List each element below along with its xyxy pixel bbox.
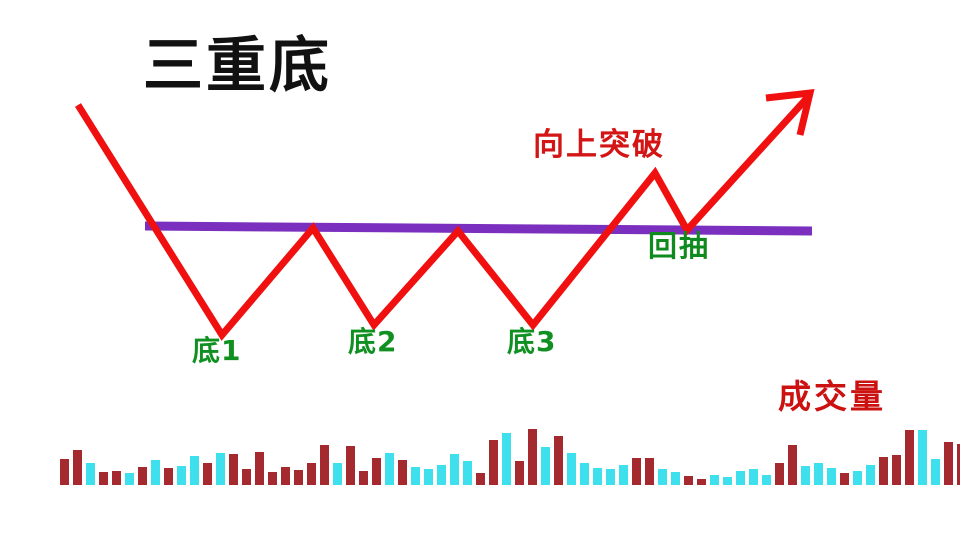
volume-bar xyxy=(73,450,82,485)
volume-bar xyxy=(216,453,225,485)
volume-bar xyxy=(671,472,680,485)
volume-bar xyxy=(476,473,485,485)
volume-bar xyxy=(788,445,797,485)
chart-canvas: 三重底 向上突破 回抽 成交量 底1 底2 底3 xyxy=(0,0,960,540)
volume-annotation: 成交量 xyxy=(778,380,886,413)
page-title: 三重底 xyxy=(143,36,332,96)
volume-bar xyxy=(164,468,173,485)
volume-bar xyxy=(333,463,342,485)
volume-bar xyxy=(645,458,654,485)
volume-bar xyxy=(346,446,355,485)
volume-bar xyxy=(697,479,706,485)
volume-bar xyxy=(684,476,693,485)
bottom-3-annotation: 底3 xyxy=(507,328,556,356)
volume-bar xyxy=(632,458,641,485)
volume-bar xyxy=(320,445,329,485)
volume-bar xyxy=(294,470,303,485)
volume-bar xyxy=(931,459,940,485)
price-polyline xyxy=(78,97,808,335)
volume-bar xyxy=(411,467,420,485)
pullback-annotation: 回抽 xyxy=(648,232,710,261)
volume-bar xyxy=(749,469,758,485)
volume-bar xyxy=(918,430,927,485)
volume-bar xyxy=(112,471,121,485)
neckline-segment xyxy=(145,226,812,231)
volume-bar xyxy=(814,463,823,485)
volume-bar xyxy=(567,453,576,485)
volume-bar xyxy=(60,459,69,485)
volume-bar xyxy=(775,463,784,485)
volume-bar xyxy=(502,433,511,485)
volume-bar xyxy=(866,465,875,485)
bottom-1-annotation: 底1 xyxy=(192,337,241,365)
volume-bar xyxy=(827,468,836,485)
volume-bar xyxy=(450,454,459,485)
price-line xyxy=(78,97,808,335)
volume-bar xyxy=(398,460,407,485)
volume-bar xyxy=(762,475,771,485)
support-line xyxy=(145,226,812,231)
volume-bar xyxy=(489,440,498,485)
volume-bar xyxy=(359,471,368,485)
volume-bar xyxy=(177,466,186,485)
volume-bar xyxy=(710,475,719,485)
volume-bar xyxy=(138,467,147,485)
volume-bar xyxy=(463,461,472,485)
volume-bar xyxy=(944,442,953,485)
volume-bar xyxy=(580,463,589,485)
volume-bar xyxy=(151,460,160,485)
volume-bar xyxy=(905,430,914,485)
volume-bar xyxy=(268,472,277,485)
volume-bar xyxy=(554,436,563,485)
volume-bar xyxy=(307,463,316,485)
volume-bar xyxy=(853,471,862,485)
volume-bar xyxy=(736,471,745,485)
volume-bar xyxy=(437,465,446,485)
volume-bar xyxy=(242,469,251,485)
volume-bar xyxy=(190,456,199,485)
volume-bar xyxy=(86,463,95,485)
volume-bar xyxy=(892,455,901,485)
bottom-2-annotation: 底2 xyxy=(348,328,397,356)
volume-bar xyxy=(99,472,108,485)
volume-bar xyxy=(658,469,667,485)
volume-bar xyxy=(840,473,849,485)
volume-bar xyxy=(424,469,433,485)
volume-bar xyxy=(606,469,615,485)
volume-bar xyxy=(723,477,732,485)
volume-bar xyxy=(619,465,628,485)
volume-bars xyxy=(60,429,960,485)
volume-bar xyxy=(125,473,134,485)
volume-bar xyxy=(203,463,212,485)
volume-bar xyxy=(541,447,550,485)
breakout-annotation: 向上突破 xyxy=(533,130,665,161)
volume-bar xyxy=(801,466,810,485)
volume-bar xyxy=(593,468,602,485)
volume-bar xyxy=(528,429,537,485)
volume-bar xyxy=(255,452,264,485)
volume-bar xyxy=(515,461,524,485)
volume-bar xyxy=(385,453,394,485)
volume-bar xyxy=(879,457,888,485)
volume-bar xyxy=(281,467,290,485)
volume-bar xyxy=(372,458,381,485)
volume-bar xyxy=(229,454,238,485)
